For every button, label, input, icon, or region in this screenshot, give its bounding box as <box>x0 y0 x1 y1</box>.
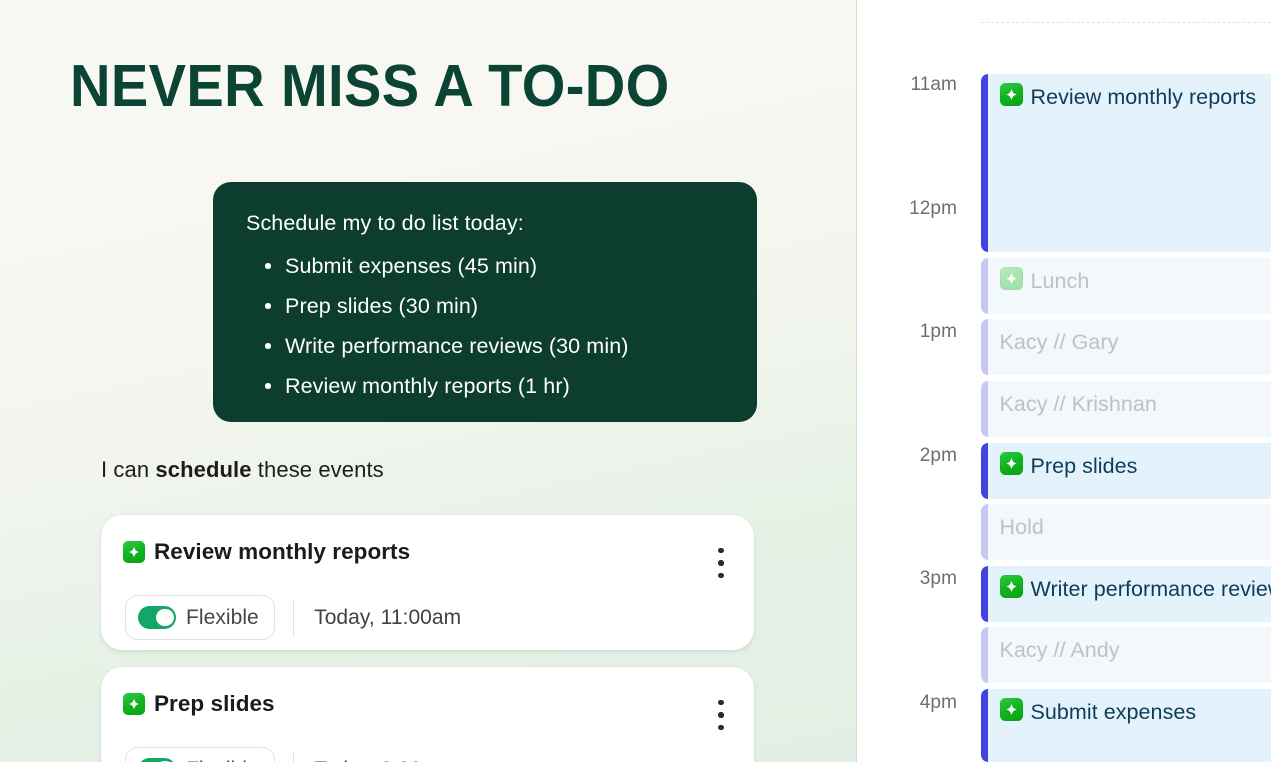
event-title: Lunch <box>1031 267 1090 295</box>
suggestion-card-time[interactable]: Today, 2:00pm <box>314 758 451 762</box>
event-title-row: Prep slides <box>1000 452 1271 480</box>
event-title-row: Review monthly reports <box>1000 83 1271 111</box>
time-label-2pm: 2pm <box>857 445 957 467</box>
toggle-knob <box>156 609 174 627</box>
suggestion-card[interactable]: Review monthly reports Flexible Today, 1… <box>101 515 754 650</box>
event-title-row: Submit expenses <box>1000 698 1271 726</box>
time-label-4pm: 4pm <box>857 692 957 714</box>
prompt-item-label: Prep slides (30 min) <box>285 294 478 318</box>
prompt-list-item: Review monthly reports (1 hr) <box>246 366 727 406</box>
suggestion-card-title: Review monthly reports <box>154 539 410 565</box>
prompt-item-label: Review monthly reports (1 hr) <box>285 374 570 398</box>
flexible-toggle-pill[interactable]: Flexible <box>125 595 275 640</box>
subhead-before: I can <box>101 457 155 482</box>
kebab-menu-icon[interactable] <box>718 700 724 730</box>
bullet-icon <box>265 263 271 269</box>
time-label-12pm: 12pm <box>857 198 957 220</box>
event-title: Kacy // Krishnan <box>1000 390 1157 418</box>
event-title-row: Kacy // Krishnan <box>1000 390 1271 418</box>
calendar-event-prep-slides[interactable]: Prep slides <box>981 443 1271 499</box>
calendar-event-lunch[interactable]: Lunch <box>981 258 1271 314</box>
event-title-row: Kacy // Andy <box>1000 636 1271 664</box>
prompt-todo-list: Submit expenses (45 min) Prep slides (30… <box>246 246 727 406</box>
calendar-event-hold[interactable]: Hold <box>981 504 1271 560</box>
flexible-toggle-pill[interactable]: Flexible <box>125 747 275 762</box>
flexible-toggle-label: Flexible <box>186 606 259 630</box>
event-body: Writer performance reviews <box>988 566 1271 622</box>
prompt-list-item: Submit expenses (45 min) <box>246 246 727 286</box>
event-title: Review monthly reports <box>1031 83 1257 111</box>
sparkle-icon <box>1000 452 1023 475</box>
calendar-event-kacy-krishnan[interactable]: Kacy // Krishnan <box>981 381 1271 437</box>
time-label-1pm: 1pm <box>857 321 957 343</box>
sparkle-icon <box>123 693 145 715</box>
suggestion-card-meta: Flexible Today, 11:00am <box>125 595 461 640</box>
time-label-3pm: 3pm <box>857 568 957 590</box>
sparkle-icon <box>1000 267 1023 290</box>
calendar-gridline <box>981 22 1271 23</box>
meta-divider <box>293 751 294 762</box>
event-body: Review monthly reports <box>988 74 1271 252</box>
sparkle-icon <box>1000 698 1023 721</box>
subhead-after: these events <box>252 457 384 482</box>
event-body: Kacy // Krishnan <box>988 381 1271 437</box>
suggestion-card-time[interactable]: Today, 11:00am <box>314 606 461 630</box>
event-body: Kacy // Gary <box>988 319 1271 375</box>
suggestion-card-title: Prep slides <box>154 691 275 717</box>
suggestion-card[interactable]: Prep slides Flexible Today, 2:00pm <box>101 667 754 762</box>
promo-panel: NEVER MISS A TO-DO Schedule my to do lis… <box>0 0 857 762</box>
bullet-icon <box>265 383 271 389</box>
event-title: Kacy // Andy <box>1000 636 1120 664</box>
event-title-row: Hold <box>1000 513 1271 541</box>
calendar-event-review-monthly-reports[interactable]: Review monthly reports <box>981 74 1271 252</box>
calendar-panel: 11am 12pm 1pm 2pm 3pm 4pm Review monthly… <box>857 0 1271 762</box>
event-body: Submit expenses <box>988 689 1271 762</box>
bullet-icon <box>265 303 271 309</box>
flexible-toggle-label: Flexible <box>186 758 259 762</box>
sparkle-icon <box>1000 575 1023 598</box>
suggestion-card-header: Prep slides <box>123 691 275 717</box>
event-title: Kacy // Gary <box>1000 328 1119 356</box>
flexible-toggle-switch[interactable] <box>138 606 176 629</box>
event-body: Prep slides <box>988 443 1271 499</box>
event-title-row: Kacy // Gary <box>1000 328 1271 356</box>
suggestion-card-header: Review monthly reports <box>123 539 410 565</box>
prompt-item-label: Submit expenses (45 min) <box>285 254 537 278</box>
bullet-icon <box>265 343 271 349</box>
prompt-list-item: Prep slides (30 min) <box>246 286 727 326</box>
event-title: Writer performance reviews <box>1031 575 1271 603</box>
meta-divider <box>293 599 294 637</box>
prompt-list-item: Write performance reviews (30 min) <box>246 326 727 366</box>
app-root: NEVER MISS A TO-DO Schedule my to do lis… <box>0 0 1271 762</box>
sparkle-icon <box>1000 83 1023 106</box>
event-title: Prep slides <box>1031 452 1138 480</box>
suggestion-card-meta: Flexible Today, 2:00pm <box>125 747 451 762</box>
prompt-item-label: Write performance reviews (30 min) <box>285 334 629 358</box>
event-body: Hold <box>988 504 1271 560</box>
suggestions-subhead: I can schedule these events <box>101 457 384 483</box>
sparkle-icon <box>123 541 145 563</box>
prompt-heading: Schedule my to do list today: <box>246 208 727 238</box>
prompt-card: Schedule my to do list today: Submit exp… <box>213 182 757 422</box>
calendar-event-writer-performance-reviews[interactable]: Writer performance reviews <box>981 566 1271 622</box>
flexible-toggle-switch[interactable] <box>138 758 176 762</box>
calendar-event-kacy-andy[interactable]: Kacy // Andy <box>981 627 1271 683</box>
subhead-strong: schedule <box>155 457 251 482</box>
event-title-row: Writer performance reviews <box>1000 575 1271 603</box>
time-label-11am: 11am <box>857 74 957 96</box>
event-title-row: Lunch <box>1000 267 1271 295</box>
event-body: Lunch <box>988 258 1271 314</box>
event-title: Submit expenses <box>1031 698 1197 726</box>
event-title: Hold <box>1000 513 1044 541</box>
calendar-event-submit-expenses[interactable]: Submit expenses <box>981 689 1271 762</box>
calendar-event-kacy-gary[interactable]: Kacy // Gary <box>981 319 1271 375</box>
kebab-menu-icon[interactable] <box>718 548 724 578</box>
event-body: Kacy // Andy <box>988 627 1271 683</box>
page-title: NEVER MISS A TO-DO <box>70 52 670 120</box>
